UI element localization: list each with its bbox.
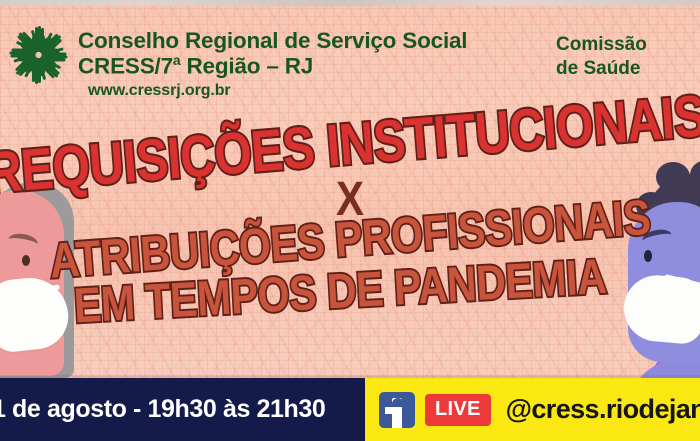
- live-badge: LIVE: [425, 394, 491, 426]
- top-edge-stripe: [0, 0, 700, 6]
- commission-line1: Comissão: [556, 33, 647, 57]
- org-region-suffix: Região – RJ: [180, 54, 313, 79]
- org-website[interactable]: www.cressrj.org.br: [88, 82, 467, 100]
- social-handle[interactable]: @cress.riodejaneiro: [506, 394, 700, 425]
- social-panel: LIVE @cress.riodejaneiro: [365, 378, 700, 441]
- footer-bar: 1 de agosto - 19h30 às 21h30 LIVE @cress…: [0, 378, 700, 441]
- organisation-block: Conselho Regional de Serviço Social CRES…: [78, 28, 467, 100]
- commission-label: Comissão de Saúde: [556, 33, 647, 81]
- circle-of-hands-logo: [6, 20, 70, 90]
- facebook-icon[interactable]: [379, 392, 415, 428]
- org-name-line1: Conselho Regional de Serviço Social: [78, 28, 467, 53]
- title-line-3-wrap: EM TEMPOS DE PANDEMIA: [30, 268, 650, 315]
- commission-line2: de Saúde: [556, 57, 647, 81]
- event-datetime: 1 de agosto - 19h30 às 21h30: [0, 395, 325, 424]
- left-figure-eye: [22, 255, 30, 266]
- org-name-line2: CRESS/7a Região – RJ: [78, 53, 467, 79]
- event-datetime-panel: 1 de agosto - 19h30 às 21h30: [0, 378, 365, 441]
- org-region-prefix: CRESS/7: [78, 54, 173, 79]
- event-poster: Conselho Regional de Serviço Social CRES…: [0, 0, 700, 441]
